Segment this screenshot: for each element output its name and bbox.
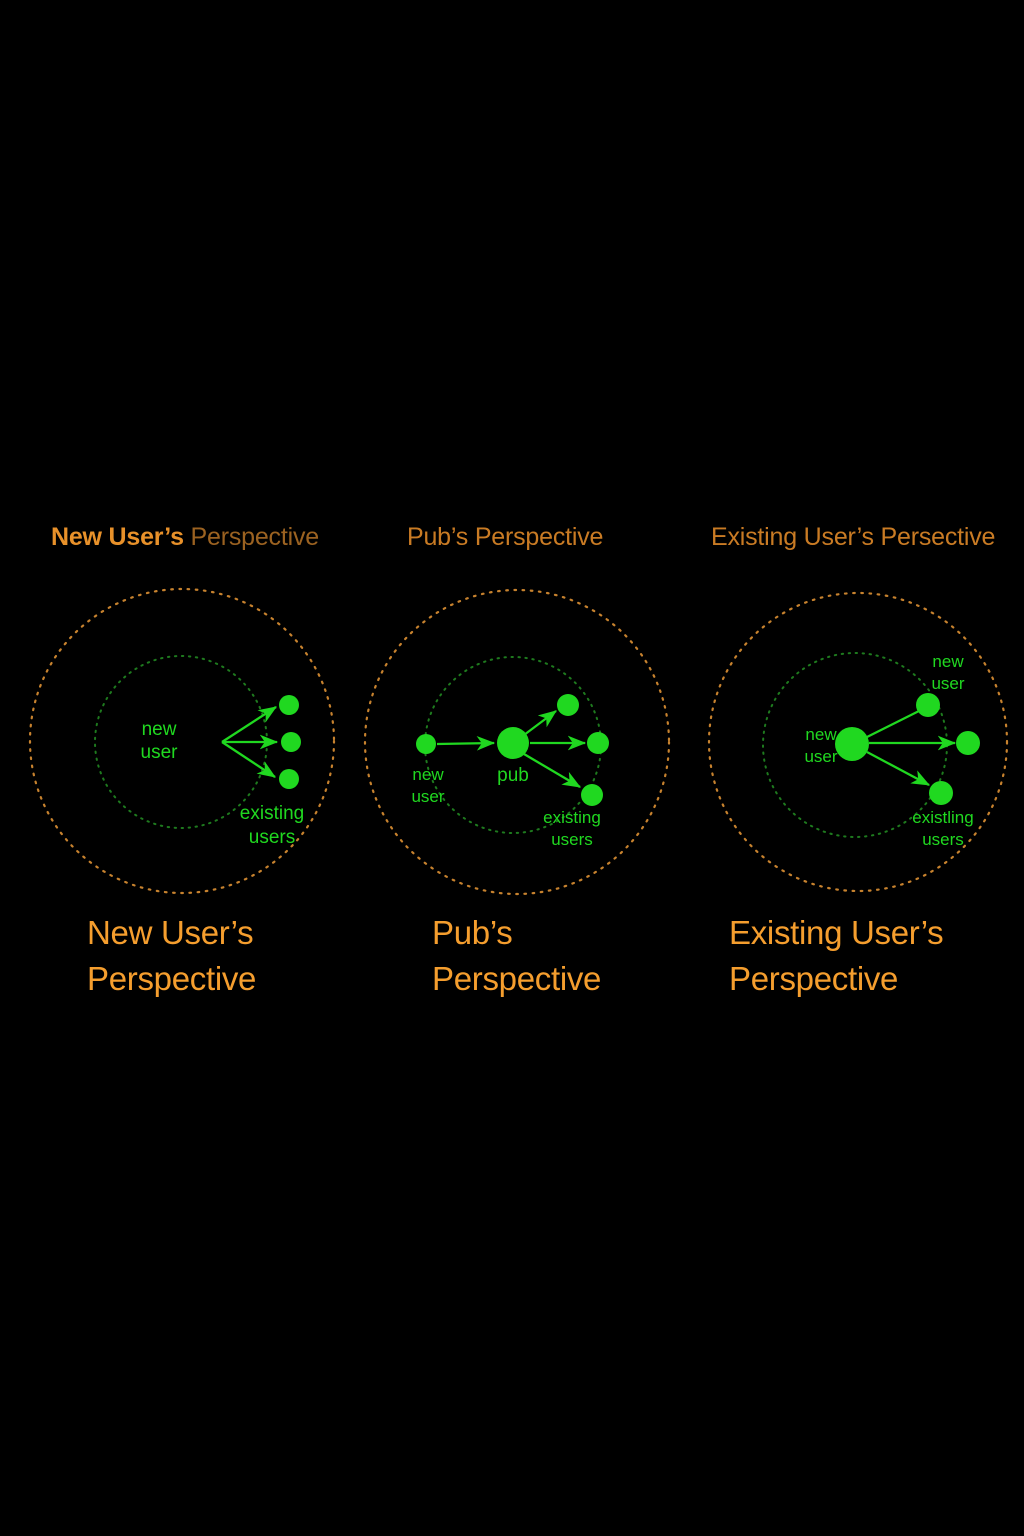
node-existing-user-middle[interactable] [281, 732, 301, 752]
label-new-user: newuser [411, 765, 444, 806]
label-new-user: newuser [141, 719, 179, 763]
edge-new-user-to-pub [437, 743, 494, 744]
node-pub-hub[interactable] [497, 727, 529, 759]
header-row: New User’s Perspective Pub’s Perspective… [0, 520, 1024, 560]
header-pub-perspective: Pub’s Perspective [407, 520, 603, 554]
node-existing-user-bottom[interactable] [279, 769, 299, 789]
node-existing-user-top[interactable] [279, 695, 299, 715]
node-center-new-user[interactable] [835, 727, 869, 761]
edge-to-existing-top [222, 707, 276, 742]
label-peer-new-user: newuser [931, 652, 964, 693]
diagram-canvas: New User’s Perspective Pub’s Perspective… [0, 0, 1024, 1536]
edge-group [222, 707, 277, 777]
node-existing-user-top[interactable] [557, 694, 579, 716]
caption-existing-user-perspective: Existing User’s Perspective [729, 910, 943, 1002]
node-existing-user-bottom[interactable] [929, 781, 953, 805]
header-dim-text: Perspective [184, 523, 319, 551]
edge-to-peer-new-user [867, 711, 919, 737]
edge-to-existing-user-bottom [867, 752, 929, 785]
label-pub: pub [497, 765, 529, 786]
node-existing-user-middle[interactable] [587, 732, 609, 754]
node-peer-new-user[interactable] [916, 693, 940, 717]
header-dim-text: Pub’s Perspective [407, 523, 603, 551]
label-center-new-user: newuser [804, 725, 837, 766]
header-dim-text: Existing User’s Persective [711, 523, 995, 551]
header-new-user-perspective: New User’s Perspective [51, 520, 319, 554]
label-existing-users: existlingusers [912, 808, 973, 849]
panel-pub-perspective: newuser pub existingusers [352, 580, 682, 910]
label-existing-users: existingusers [240, 803, 304, 848]
edge-to-existing-bottom [222, 742, 275, 777]
caption-pub-perspective: Pub’s Perspective [432, 910, 601, 1002]
header-strong-text: New User’s [51, 523, 184, 551]
panel-existing-user-perspective: newuser newuser existlingusers [693, 580, 1023, 910]
node-existing-user-bottom[interactable] [581, 784, 603, 806]
node-new-user[interactable] [416, 734, 436, 754]
edge-pub-to-existing-bottom [524, 754, 580, 787]
header-existing-user-perspective: Existing User’s Persective [711, 520, 995, 554]
label-existing-users: existingusers [543, 808, 601, 849]
edge-pub-to-existing-top [524, 711, 556, 735]
caption-new-user-perspective: New User’s Perspective [87, 910, 256, 1002]
node-existing-user-right[interactable] [956, 731, 980, 755]
panel-new-user-perspective: newuser existingusers [17, 580, 347, 910]
